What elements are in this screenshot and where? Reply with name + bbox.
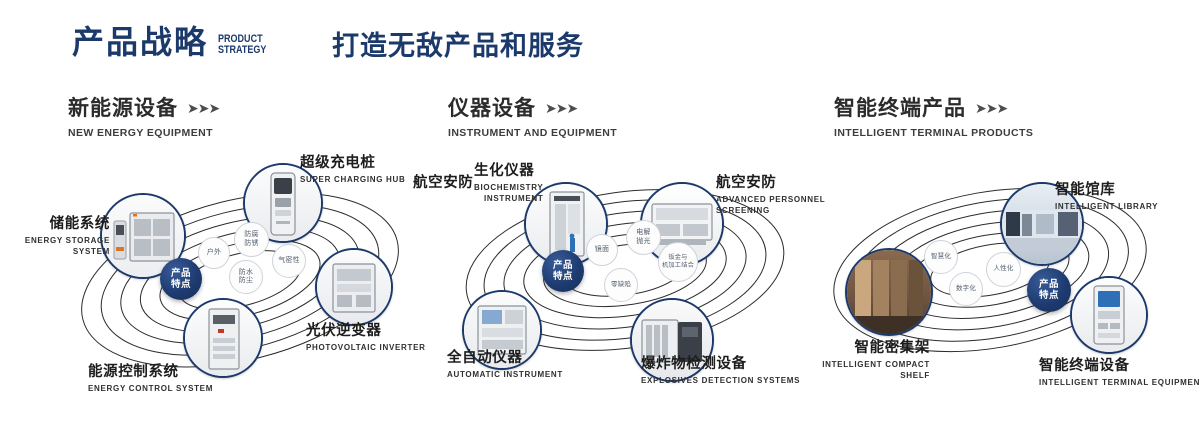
- page-title-en: PRODUCT STRATEGY: [218, 34, 266, 56]
- section-title-new-energy: 新能源设备➤➤➤ NEW ENERGY EQUIPMENT: [68, 96, 219, 139]
- feature-label: 镜面: [595, 246, 609, 255]
- feature-bubble-anticorrosion[interactable]: 防腐防锈: [234, 222, 269, 257]
- section-title-instrument: 仪器设备➤➤➤ INSTRUMENT AND EQUIPMENT: [448, 96, 617, 139]
- core-line2: 特点: [553, 271, 573, 282]
- terminal-kiosk-photo: [1072, 278, 1146, 352]
- label-en-line1: ENERGY STORAGE: [0, 236, 110, 247]
- cluster-new-energy: 产品 特点 户外 防腐防锈 防水防尘 气密性: [40, 150, 460, 400]
- label-cn: 生化仪器: [474, 163, 543, 180]
- label-aviation-security-left: 航空安防: [413, 175, 473, 192]
- label-advanced-personnel-screening: 航空安防 ADVANCED PERSONNEL SCREENING: [716, 175, 825, 217]
- label-en-line1: AUTOMATIC INSTRUMENT: [447, 370, 563, 381]
- core-line1: 产品: [1039, 279, 1059, 290]
- label-photovoltaic-inverter: 光伏逆变器 PHOTOVOLTAIC INVERTER: [306, 323, 426, 354]
- label-en-line2: INSTRUMENT: [474, 194, 543, 205]
- label-en-line1: ADVANCED PERSONNEL: [716, 195, 825, 206]
- page-slogan: 打造无敌产品和服务: [332, 30, 584, 62]
- node-intelligent-compact-shelf[interactable]: [845, 248, 933, 336]
- section1-title-en: NEW ENERGY EQUIPMENT: [68, 127, 219, 139]
- feature-bubble-zero-defect[interactable]: 零缺陷: [604, 268, 638, 302]
- label-cn: 航空安防: [716, 175, 825, 192]
- section3-title-en: INTELLIGENT TERMINAL PRODUCTS: [834, 127, 1033, 139]
- core-bubble-product-features[interactable]: 产品 特点: [160, 258, 202, 300]
- feature-label: 机加工结合: [662, 262, 694, 270]
- page-title-en-line2: STRATEGY: [218, 45, 266, 56]
- core-line2: 特点: [171, 279, 191, 290]
- feature-label: 零缺陷: [611, 281, 631, 290]
- feature-bubble-digitalized[interactable]: 数字化: [949, 272, 983, 306]
- label-en-line1: INTELLIGENT TERMINAL EQUIPMENT: [1039, 378, 1200, 389]
- core-line1: 产品: [553, 260, 573, 271]
- feature-bubble-intelligent[interactable]: 智慧化: [924, 240, 958, 274]
- label-cn: 爆炸物检测设备: [641, 356, 800, 373]
- feature-label: 防尘: [239, 277, 253, 286]
- label-en-line2: SHELF: [806, 371, 930, 382]
- feature-label: 防腐: [244, 231, 258, 240]
- section2-title-cn: 仪器设备: [448, 96, 536, 122]
- label-en-line1: ENERGY CONTROL SYSTEM: [88, 384, 213, 395]
- core-bubble-product-features[interactable]: 产品 特点: [1027, 268, 1071, 312]
- chevron-right-icon: ➤➤➤: [975, 100, 1007, 118]
- section2-title-en: INSTRUMENT AND EQUIPMENT: [448, 127, 617, 139]
- label-cn: 智能密集架: [806, 340, 930, 357]
- label-cn: 光伏逆变器: [306, 323, 426, 340]
- label-en-line1: PHOTOVOLTAIC INVERTER: [306, 343, 426, 354]
- page-title-cn: 产品战略: [72, 26, 208, 58]
- feature-label: 户外: [207, 249, 221, 258]
- label-en-line2: SYSTEM: [0, 247, 110, 258]
- feature-label: 电解: [636, 229, 650, 238]
- label-super-charging-hub: 超级充电桩 SUPER CHARGING HUB: [300, 155, 406, 186]
- compact-shelf-photo: [847, 250, 931, 334]
- label-energy-control-system: 能源控制系统 ENERGY CONTROL SYSTEM: [88, 364, 213, 395]
- label-cn: 智能馆库: [1055, 182, 1158, 199]
- feature-bubble-airtightness[interactable]: 气密性: [272, 244, 306, 278]
- label-automatic-instrument: 全自动仪器 AUTOMATIC INSTRUMENT: [447, 350, 563, 381]
- section1-title-cn: 新能源设备: [68, 96, 178, 122]
- label-biochemistry-instrument: 生化仪器 BIOCHEMISTRY INSTRUMENT: [474, 163, 543, 205]
- product-strategy-infographic: 产品战略 PRODUCT STRATEGY 打造无敌产品和服务 新能源设备➤➤➤…: [0, 0, 1200, 422]
- feature-bubble-waterproof[interactable]: 防水防尘: [229, 260, 263, 294]
- section3-title-cn: 智能终端产品: [834, 96, 966, 122]
- label-intelligent-library: 智能馆库 INTELLIGENT LIBRARY: [1055, 182, 1158, 213]
- label-en-line1: EXPLOSIVES DETECTION SYSTEMS: [641, 376, 800, 387]
- label-cn: 储能系统: [0, 216, 110, 233]
- label-cn: 智能终端设备: [1039, 358, 1200, 375]
- section-title-intelligent-terminal: 智能终端产品➤➤➤ INTELLIGENT TERMINAL PRODUCTS: [834, 96, 1033, 139]
- inverter-photo: [317, 250, 391, 324]
- feature-label: 气密性: [278, 257, 300, 266]
- core-line1: 产品: [171, 268, 191, 279]
- label-cn: 航空安防: [413, 175, 473, 192]
- label-en-line1: INTELLIGENT LIBRARY: [1055, 202, 1158, 213]
- feature-label: 防锈: [244, 240, 258, 249]
- page-title: 产品战略 PRODUCT STRATEGY: [72, 26, 277, 58]
- label-cn: 能源控制系统: [88, 364, 213, 381]
- chevron-right-icon: ➤➤➤: [187, 100, 219, 118]
- feature-label: 抛光: [636, 238, 650, 247]
- label-intelligent-terminal-equipment: 智能终端设备 INTELLIGENT TERMINAL EQUIPMENT: [1039, 358, 1200, 389]
- label-cn: 全自动仪器: [447, 350, 563, 367]
- node-photovoltaic-inverter[interactable]: [315, 248, 393, 326]
- label-energy-storage-system: 储能系统 ENERGY STORAGE SYSTEM: [0, 216, 110, 258]
- feature-bubble-electropolishing[interactable]: 电解抛光: [626, 220, 661, 255]
- label-en-line2: SCREENING: [716, 206, 825, 217]
- label-en-line1: BIOCHEMISTRY: [474, 183, 543, 194]
- feature-bubble-sheetmetal-machining[interactable]: 钣金与机加工结合: [658, 242, 698, 282]
- feature-label: 智慧化: [931, 253, 951, 262]
- label-en-line1: INTELLIGENT COMPACT: [806, 360, 930, 371]
- feature-bubble-outdoor[interactable]: 户外: [198, 237, 230, 269]
- node-intelligent-terminal-equipment[interactable]: [1070, 276, 1148, 354]
- label-en-line1: SUPER CHARGING HUB: [300, 175, 406, 186]
- feature-label: 防水: [239, 269, 253, 278]
- feature-label: 人性化: [993, 265, 1013, 274]
- feature-label: 钣金与: [662, 254, 694, 262]
- feature-label: 数字化: [956, 285, 976, 294]
- core-line2: 特点: [1039, 290, 1059, 301]
- feature-bubble-humanized[interactable]: 人性化: [986, 252, 1021, 287]
- label-cn: 超级充电桩: [300, 155, 406, 172]
- label-explosives-detection-systems: 爆炸物检测设备 EXPLOSIVES DETECTION SYSTEMS: [641, 356, 800, 387]
- feature-bubble-mirror[interactable]: 镜面: [586, 234, 618, 266]
- chevron-right-icon: ➤➤➤: [545, 100, 577, 118]
- core-bubble-product-features[interactable]: 产品 特点: [542, 250, 584, 292]
- label-intelligent-compact-shelf: 智能密集架 INTELLIGENT COMPACT SHELF: [806, 340, 930, 382]
